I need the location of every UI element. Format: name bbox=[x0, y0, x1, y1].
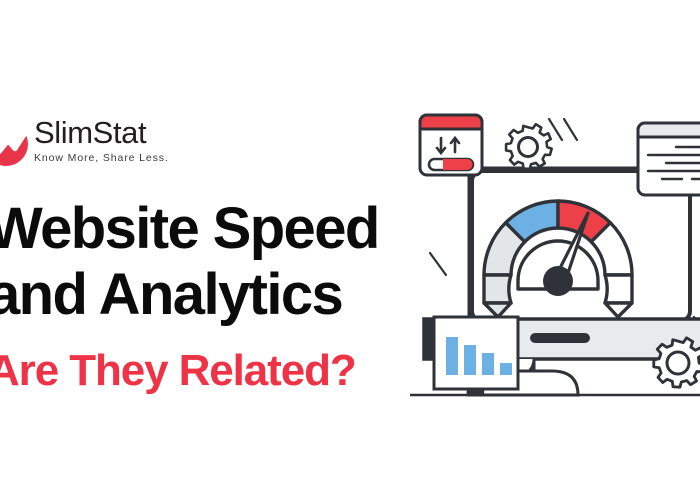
bar-chart-bar-2 bbox=[464, 345, 476, 375]
brand-tagline: Know More, Share Less. bbox=[34, 151, 169, 165]
brand-name: SlimStat bbox=[34, 116, 169, 150]
bar-chart-card bbox=[434, 317, 518, 389]
transfer-card bbox=[420, 115, 482, 175]
monitor-bezel-button bbox=[530, 333, 590, 343]
speed-line-2 bbox=[564, 119, 577, 140]
hero-illustration bbox=[410, 105, 700, 420]
speed-line-3 bbox=[430, 253, 446, 275]
banner-canvas: SlimStat Know More, Share Less. Website … bbox=[0, 0, 700, 500]
bar-chart-bar-3 bbox=[482, 353, 494, 375]
document-card bbox=[638, 123, 700, 195]
gauge-wedge-left bbox=[484, 275, 511, 303]
gear-icon-top bbox=[506, 124, 552, 169]
gauge-wedge-right bbox=[605, 275, 632, 303]
brand-text-block: SlimStat Know More, Share Less. bbox=[34, 116, 169, 165]
progress-pill-fill bbox=[443, 159, 473, 170]
document-card-titlebar bbox=[638, 123, 700, 137]
slimstat-logo-icon bbox=[0, 120, 30, 168]
transfer-card-titlebar bbox=[420, 115, 482, 129]
bar-chart-bar-4 bbox=[500, 363, 512, 375]
gauge-needle-hub bbox=[543, 266, 573, 296]
brand-lockup: SlimStat Know More, Share Less. bbox=[0, 118, 242, 174]
bar-chart-bar-1 bbox=[446, 337, 458, 375]
